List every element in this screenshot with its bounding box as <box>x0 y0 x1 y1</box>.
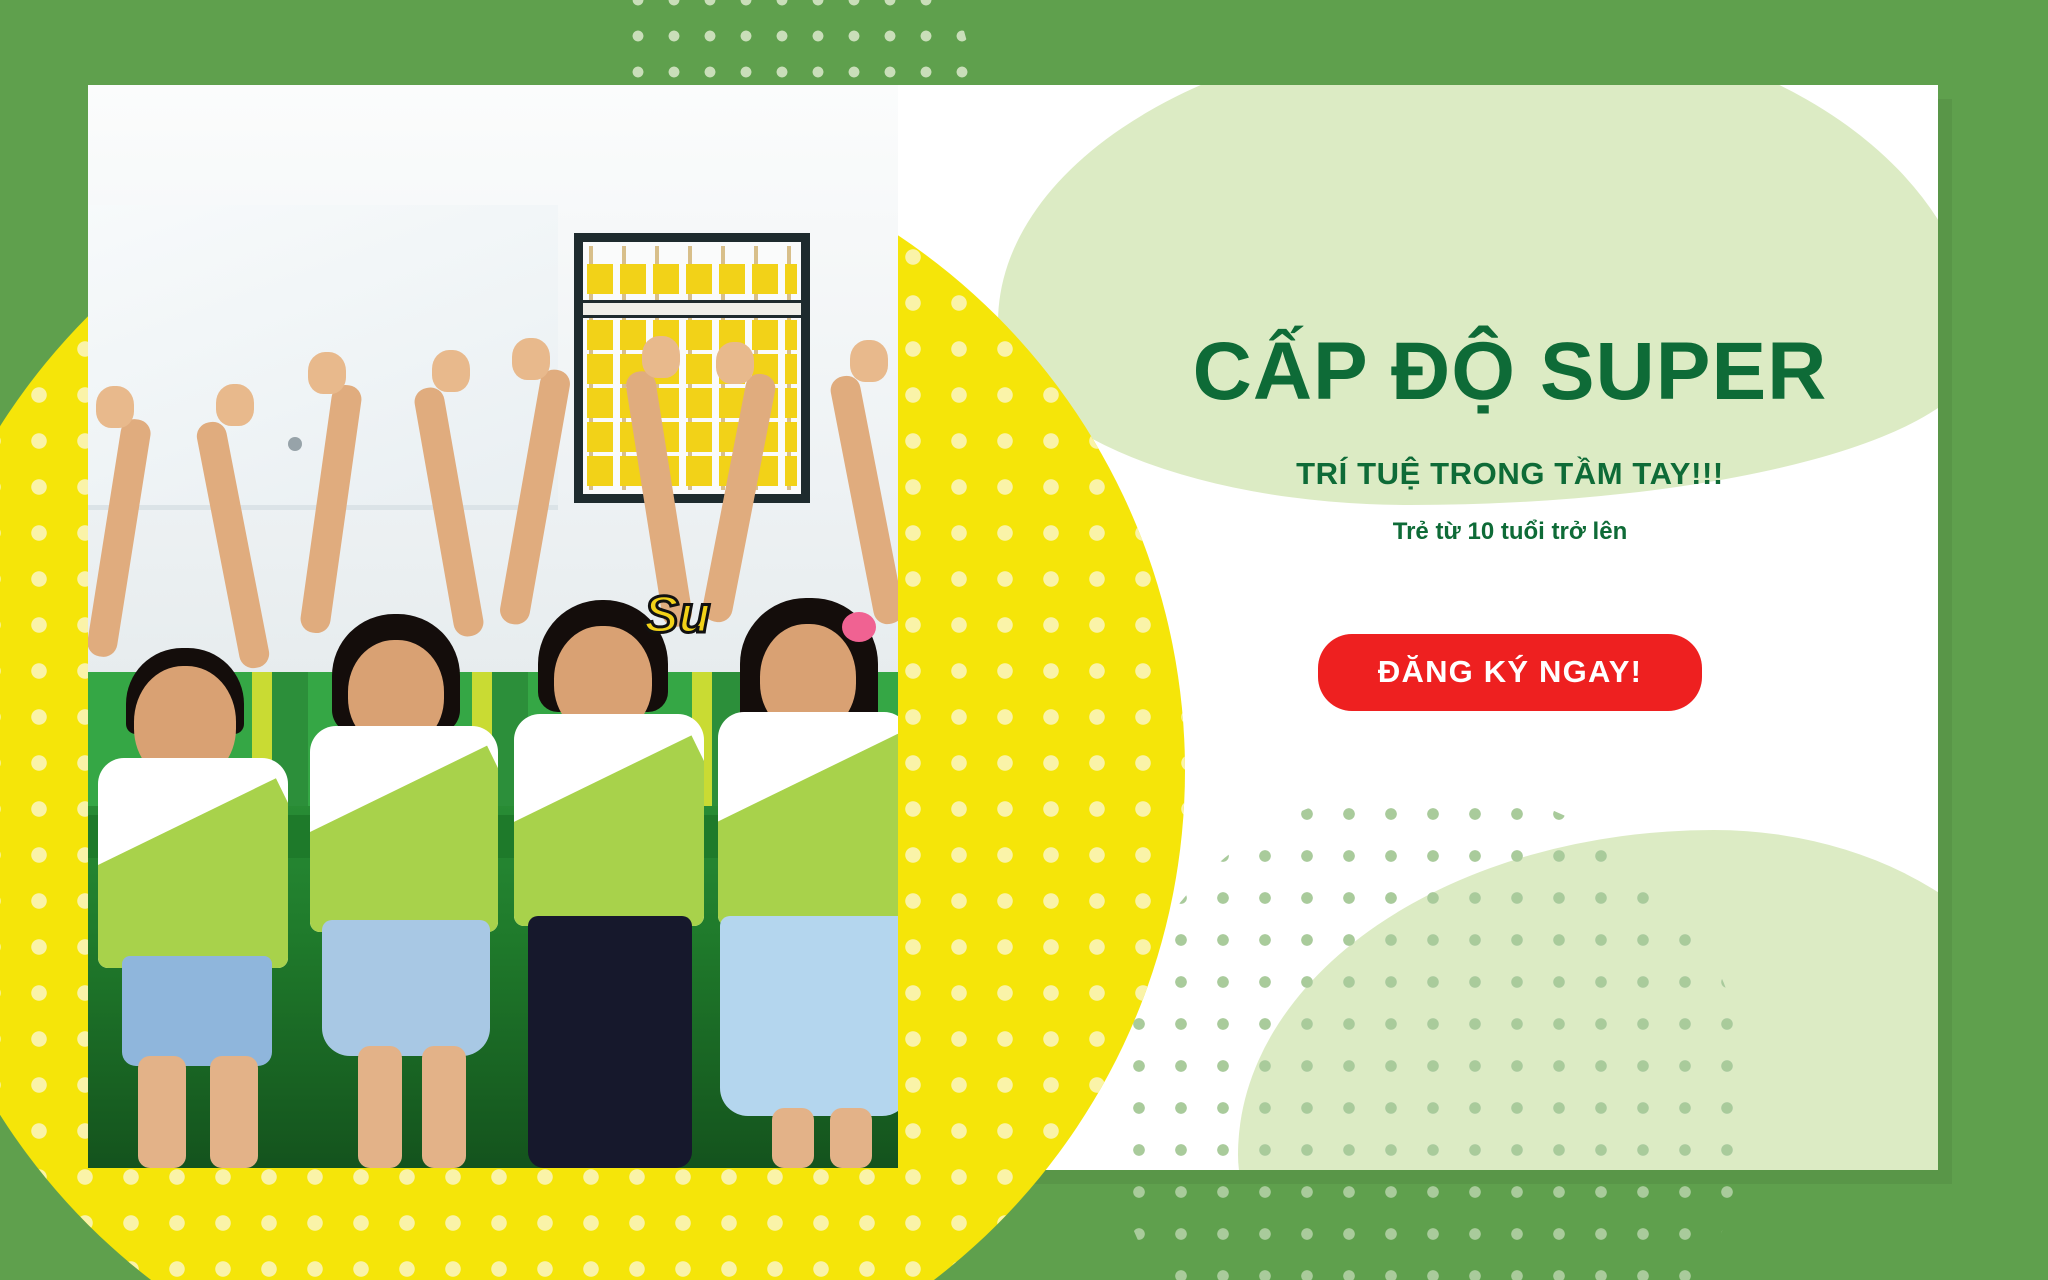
register-now-button[interactable]: ĐĂNG KÝ NGAY! <box>1318 634 1702 711</box>
hair-flower-accessory <box>842 612 876 642</box>
child-uniform-shirt <box>514 714 704 926</box>
child-arm <box>194 419 271 670</box>
child-figure <box>306 378 502 1168</box>
child-arm <box>498 367 572 626</box>
child-arm <box>88 417 153 659</box>
child-arm <box>412 385 485 638</box>
hero-photo-frame: Su <box>88 85 898 1168</box>
abacus-bead-row <box>587 264 797 294</box>
abacus-divider-bar <box>583 300 801 318</box>
age-requirement-note: Trẻ từ 10 tuổi trở lên <box>1140 518 1880 546</box>
child-hand <box>216 384 254 426</box>
child-leg <box>772 1108 814 1168</box>
child-figure <box>98 408 288 1168</box>
child-arm <box>828 373 898 626</box>
page-title: CẤP ĐỘ SUPER <box>1140 330 1880 414</box>
child-skirt <box>720 916 898 1116</box>
child-hand <box>850 340 888 382</box>
child-leg <box>138 1056 186 1168</box>
child-leg <box>830 1108 872 1168</box>
child-figure <box>508 368 708 1168</box>
abacus-bead-row <box>587 320 797 350</box>
child-leg <box>210 1056 258 1168</box>
child-pants <box>528 916 692 1168</box>
child-skirt <box>322 920 490 1056</box>
child-hand <box>642 336 680 378</box>
child-uniform-shirt <box>310 726 498 932</box>
child-hand <box>96 386 134 428</box>
hero-photo: Su <box>88 85 898 1168</box>
soft-green-blob-bottom-right <box>1238 830 1938 1170</box>
child-hand <box>432 350 470 392</box>
banner-stage: CẤP ĐỘ SUPER TRÍ TUỆ TRONG TẦM TAY!!! Tr… <box>0 0 2048 1280</box>
child-leg <box>422 1046 466 1168</box>
promo-text-panel: CẤP ĐỘ SUPER TRÍ TUỆ TRONG TẦM TAY!!! Tr… <box>1140 330 1880 711</box>
child-hand <box>308 352 346 394</box>
child-shorts <box>122 956 272 1066</box>
child-arm <box>299 383 364 635</box>
child-uniform-shirt <box>98 758 288 968</box>
child-uniform-shirt <box>718 712 898 926</box>
su-logo-mark: Su <box>644 585 710 645</box>
child-leg <box>358 1046 402 1168</box>
subtitle: TRÍ TUỆ TRONG TẦM TAY!!! <box>1140 456 1880 492</box>
child-hand <box>512 338 550 380</box>
child-hand <box>716 342 754 384</box>
child-figure <box>710 368 898 1168</box>
wall-screw-icon <box>288 437 302 451</box>
child-arm <box>700 371 778 624</box>
